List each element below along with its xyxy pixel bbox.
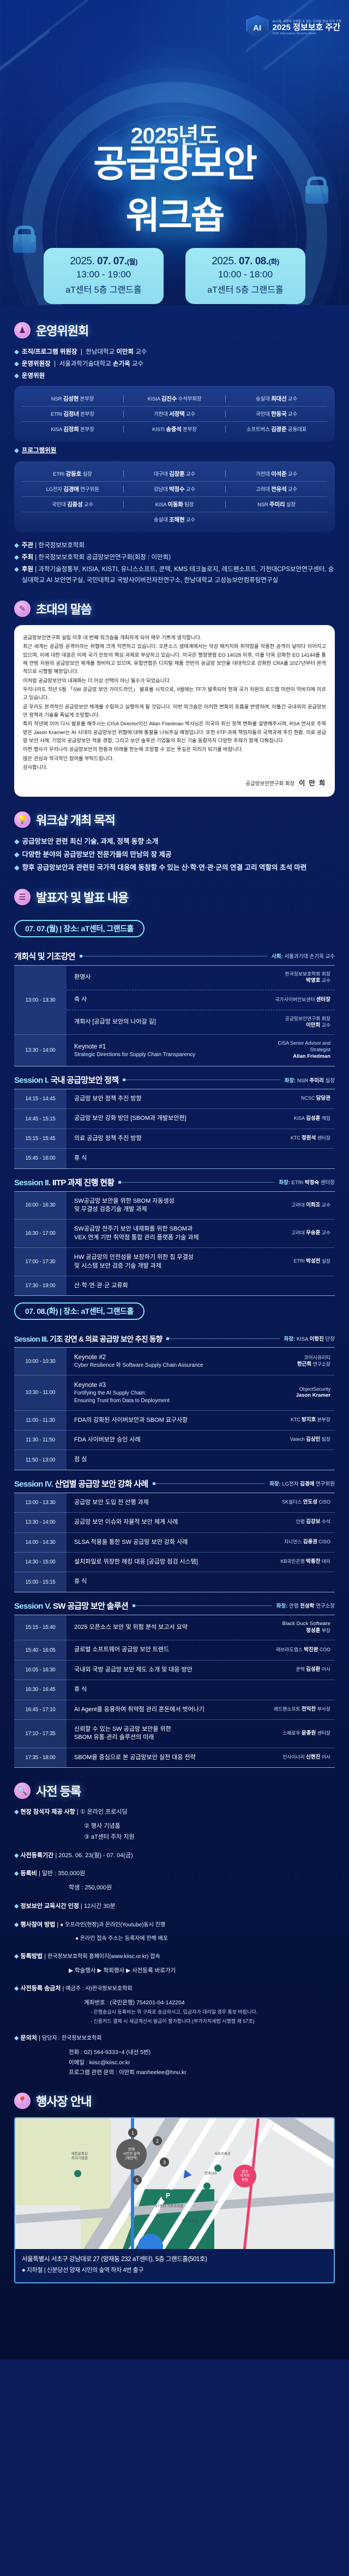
badge-title-en: 2025 Information Security Week	[273, 33, 341, 36]
time-cell: 13:30 - 14:00	[14, 1512, 67, 1532]
contact-program: 프로그램 관련 문의 : 이만희 manheelee@hnu.kr	[14, 2068, 335, 2078]
divider	[166, 1338, 279, 1339]
title-cell: FDA의 강화된 사이버보안과 SBOM 요구사항	[67, 1410, 258, 1430]
member-cell: 소프트버스 김광준 공동대표	[226, 425, 327, 433]
member-cell: 가천대 이석준 교수	[226, 470, 327, 478]
registration-fee: ◆ 등록비 | 일반 : 350,000원	[14, 1869, 335, 1880]
speaker-cell: KB국민은행 박종찬 대리	[258, 1552, 335, 1572]
map-subway-line	[131, 2178, 134, 2249]
keynote-subtitle: Fortifying the AI Supply Chain: Ensuring…	[74, 1390, 253, 1404]
map-park-area	[15, 2118, 111, 2205]
member-cell: 국민대 한동국 교수	[226, 410, 327, 418]
title-cell: SW공급망 전주기 보안 내재화를 위한 SBOM과 VEX 연계 기반 취약점…	[67, 1219, 258, 1247]
table-row: 14:15 - 14:45 공급망 보안 정책 추진 방향 NCSC 담당관	[14, 1089, 335, 1108]
greeting-paragraph: 곧 우리도 본격적인 공급망보안 체계를 수립하고 실행하게 될 것입니다. 이…	[23, 703, 326, 720]
session-name: Session I. 국내 공급망보안 정책	[14, 1074, 118, 1086]
title-cell: 공급망 보안 이슈와 자율적 보안 체계 사례	[67, 1512, 258, 1532]
speaker-cell: 코어시큐리티 한근희 연구소장	[258, 1348, 335, 1375]
session5-schedule-table: 15:15 - 15:40 2025 오픈소스 보안 및 위험 분석 보고서 요…	[14, 1615, 335, 1768]
time-cell: 15:00 - 15:15	[14, 1572, 67, 1591]
time-cell: 13:00 - 13:30	[14, 1493, 67, 1512]
member-row: KISA 김정희 본부장 KISTI 송중석 본부장 소프트버스 김광준 공동대…	[22, 422, 327, 437]
onsite-item: ③ aT센터 주차 지원	[14, 1832, 335, 1843]
time-cell: 15:45 - 16:00	[14, 1148, 67, 1168]
member-cell: 국민대 김종성 교수	[22, 500, 123, 508]
speaker-name: 센터장	[316, 997, 330, 1003]
title-cell: Keynote #2 Cyber Resilience 와 Software S…	[67, 1348, 258, 1375]
session2-schedule-table: 16:00 - 16:30 SW공급망 보안을 위한 SBOM 자동생성 및 무…	[14, 1191, 335, 1296]
fee-student: 학생 : 250,000원	[14, 1883, 335, 1894]
map-label-fire: 양재119	[189, 2172, 232, 2176]
label: 프로그램위원	[22, 445, 56, 456]
poster-page: AI AI시대, 국민이 신뢰할 수 있는 디지털 안심 국가 구현 2025 …	[0, 0, 349, 2360]
keynote-subtitle: Cyber Resilience 와 Software Supply Chain…	[74, 1362, 253, 1369]
chair-value: 서울과기대 손기욱 교수	[284, 954, 335, 960]
session-name: 개회식 및 기조강연	[14, 950, 75, 962]
title-cell: Keynote #3 Fortifying the AI Supply Chai…	[67, 1375, 258, 1410]
speaker-org: 한국정보보호학회 회장	[285, 971, 330, 978]
map-canvas[interactable]: 양재 시민의 숲역 (매헌역) 1 2 3 5 매헌윤봉길 의사기념관 서초우체…	[15, 2118, 334, 2249]
label: 등록비	[21, 1870, 37, 1877]
time-cell: 11:30 - 11:50	[14, 1430, 67, 1450]
greeting-paragraph: 감사합니다.	[23, 763, 326, 772]
attend-item: 온라인 접속 주소는 등록자에 한해 배포	[80, 1936, 168, 1942]
table-row: 17:10 - 17:35 신뢰할 수 있는 SW 공급망 보안을 위한 SBO…	[14, 1719, 335, 1748]
venue-map[interactable]: 양재 시민의 숲역 (매헌역) 1 2 3 5 매헌윤봉길 의사기념관 서초우체…	[14, 2117, 335, 2283]
speaker-cell: SK쉴더스 안도성 CISO	[258, 1493, 335, 1512]
bank-note: - 은행송금시 등록비는 위 구좌로 송금하시고, 입금자가 대리일 경우 통보…	[14, 2008, 335, 2016]
date-year: 2025.	[212, 256, 236, 267]
table-row: 10:30 - 11:00 Keynote #3 Fortifying the …	[14, 1375, 335, 1410]
purpose-text: 공급망보안 관련 최신 기술, 과제, 정책 동향 소개	[22, 836, 159, 848]
title-cell: 산·학·연·관·군 교류회	[67, 1276, 258, 1295]
keynote-label: Keynote #1	[74, 1042, 253, 1051]
title-cell: 환영사	[67, 966, 258, 990]
speaker-cell: 래브라도랩스 박진완 COO	[258, 1640, 335, 1659]
title-cell: 공급망 보안 정책 추진 방향	[67, 1089, 258, 1108]
person-icon: ♟	[14, 322, 31, 338]
divider	[123, 1080, 280, 1080]
table-row: 10:00 - 10:30 Keynote #2 Cyber Resilienc…	[14, 1348, 335, 1375]
session-name: Session II. IITP 과제 진행 현황	[14, 1177, 114, 1188]
speaker-cell: ETRI 박성천 실장	[258, 1247, 335, 1276]
session1-header: Session I. 국내 공급망보안 정책 좌장: NSR 주미리 실장	[14, 1074, 335, 1086]
session4-header: Session IV. 산업별 공급망 보안 강화 사례 좌장: LG전자 김경…	[14, 1478, 335, 1489]
title-cell: 2025 오픈소스 보안 및 위험 분석 보고서 요약	[67, 1615, 258, 1640]
table-row: 14:45 - 15:15 공급망 보안 강화 방안 [SBOM과 개발보안편]…	[14, 1108, 335, 1128]
greeting-signature: 공급망보안연구회 회장 이 만 희	[23, 778, 326, 789]
table-row: 15:45 - 16:00 휴 식	[14, 1148, 335, 1168]
title-cell: 점 심	[67, 1450, 258, 1469]
registration-method: ◆ 등록방법 | 한국정보보호학회 홈페이지(www.kiisc.or.kr) …	[14, 1951, 335, 1962]
onsite-benefits: ◆ 현장 참석자 제공 사항 | ① 온라인 프로시딩	[14, 1807, 335, 1818]
session3-header: Session III. 기조 강연 & 의료 공급망 보안 추진 동향 좌장:…	[14, 1333, 335, 1344]
time-cell: 13:00 - 13:30	[14, 966, 67, 1035]
signature-org: 공급망보안연구회 회장	[245, 781, 294, 787]
bullet-icon: ◆	[14, 849, 20, 861]
greeting-section-header: ✎ 초대의 말씀	[14, 600, 335, 617]
chair-title: 실장	[326, 1078, 335, 1084]
table-row: 13:30 - 14:00 Keynote #1 Strategic Direc…	[14, 1034, 335, 1066]
table-row: 16:30 - 17:00 SW공급망 전주기 보안 내재화를 위한 SBOM과…	[14, 1219, 335, 1247]
chair-org: ETRI	[292, 1180, 304, 1186]
title-cell: SLSA 적용을 통한 SW 공급망 보안 강화 사례	[67, 1532, 258, 1552]
member-cell: NSR 주미리 실장	[226, 500, 327, 508]
speaker-cell	[258, 1680, 335, 1699]
day2-pill: 07. 08.(화) | 장소: aT센터, 그랜드홀	[14, 1302, 145, 1320]
member-cell: ETRI 김정녀 본부장	[22, 410, 123, 418]
table-row: 14:30 - 15:00 설치파일로 위장한 해킹 대응 [공급망 점검 시스…	[14, 1552, 335, 1572]
member-cell: KISTI 송중석 본부장	[124, 425, 225, 433]
bank-note: - 신용카드 결제 시 세금계산서 발급이 불가합니다.(부가가치세법 시행령 …	[14, 2017, 335, 2026]
registration-path: ▶ 학술행사 ▶ 학회행사 ▶ 사전등록 바로가기	[14, 1966, 335, 1976]
speaker-cell: 인사이너리 신현진 이사	[258, 1748, 335, 1767]
session-chair: 좌장: KISA 이항진 단장	[284, 1335, 335, 1342]
date-year: 2025.	[70, 256, 94, 267]
hero-subtitle: 워크숍	[0, 185, 349, 239]
section-title: 행사장 안내	[36, 2092, 91, 2110]
chair-title: 단장	[326, 1336, 335, 1342]
speaker-title: 교수	[322, 1022, 330, 1028]
member-cell: 가천대 서정택 교수	[124, 410, 225, 418]
speaker-cell	[258, 1276, 335, 1295]
section-title: 워크샵 개최 목적	[36, 811, 115, 828]
member-cell: KISA 김정희 본부장	[22, 425, 123, 433]
map-label-parking: aT센터 지하주차장	[141, 2204, 198, 2209]
speaker-cell: 고려대 이희조 교수	[258, 1192, 335, 1220]
person-name: 이만희	[116, 349, 134, 355]
program-members-box: ETRI 강동호 실장 대구대 김창훈 교수 가천대 이석준 교수 LG전자 김…	[14, 461, 335, 532]
chair-org: NSR	[297, 1078, 308, 1084]
member-cell: LG전자 김경애 연구위원	[22, 485, 123, 493]
value: 서울과학기술대학교	[59, 361, 111, 367]
session3-schedule-table: 10:00 - 10:30 Keynote #2 Cyber Resilienc…	[14, 1347, 335, 1470]
host-line: ◆ 주관 | 한국정보보호학회	[14, 540, 335, 551]
time-cell: 14:30 - 15:00	[14, 1552, 67, 1572]
program-section-header: ☰ 발표자 및 발표 내용	[14, 888, 335, 906]
title-cell: 공급망 보안 강화 방안 [SBOM과 개발보안편]	[67, 1108, 258, 1128]
map-label-plaza: 희망공판장	[165, 2219, 214, 2223]
bullet-icon: ◆	[14, 862, 20, 874]
map-label-postoffice: 서초우체국	[198, 2152, 247, 2156]
attend-item: 오프라인(현장)과 온라인(Youtube)동시 진행	[65, 1922, 165, 1928]
contact-email: 이메일 : kiisc@kiisc.or.kr	[14, 2058, 335, 2068]
time-cell: 16:30 - 17:00	[14, 1219, 67, 1247]
committee-chair-org: ◆ 조직/프로그램 위원장 | 한남대학교 이만희 교수	[14, 347, 335, 357]
speaker-title: 교수	[322, 978, 330, 983]
value: 과학기술정통부, KISIA, KISTI, 유니스소프트, 쿤텍, KMS 테…	[22, 566, 334, 584]
table-row: 14:00 - 14:30 SLSA 적용을 통한 SW 공급망 보안 강화 사…	[14, 1532, 335, 1552]
date-venue: aT센터 5층 그랜드홀	[189, 282, 302, 295]
table-row: 16:45 - 17:10 AI Agent를 응용하여 취약점 관리 혼돈에서…	[14, 1700, 335, 1719]
speaker-cell: 한국정보보호학회 회장 박영호 교수	[258, 966, 335, 990]
organizer-line: ◆ 주최 | 한국정보보호학회 공급망보안연구회(회장 : 이만희)	[14, 552, 335, 563]
time-cell: 15:40 - 16:05	[14, 1640, 67, 1659]
value: 한남대학교	[86, 349, 115, 355]
speaker-cell: ObjectSecurity Jason Kramer	[258, 1375, 335, 1410]
time-cell: 15:15 - 15:45	[14, 1129, 67, 1148]
purpose-item: ◆ 다양한 분야의 공급망보안 전문가들의 만남의 장 제공	[14, 849, 335, 861]
chair-name: 박정숙	[305, 1180, 319, 1186]
map-exit-3: 3	[160, 2157, 169, 2167]
time-cell: 17:30 - 19:00	[14, 1276, 67, 1295]
table-row: 11:30 - 11:50 FDA 사이버보안 승인 사례 Vatech 김상민…	[14, 1430, 335, 1450]
title-cell: 글로벌 소프트웨어 공급망 보안 트렌드	[67, 1640, 258, 1659]
member-cell: 숭실대 조해현 교수	[154, 516, 195, 524]
table-row: 15:15 - 15:45 의료 공급망 정책 추진 방향 KTC 정원석 센터…	[14, 1129, 335, 1148]
chair-org: KISA	[297, 1336, 308, 1342]
chair-label: 좌장:	[285, 1078, 296, 1084]
value: 한국정보보호학회 홈페이지(www.kiisc.or.kr) 접속	[47, 1954, 160, 1960]
poster-body: ♟ 운영위원회 ◆ 조직/프로그램 위원장 | 한남대학교 이만희 교수 ◆ 운…	[0, 305, 349, 2360]
member-row: NSR 김성현 본부장 KISIA 김진수 수석부회장 숭실대 최대선 교수	[22, 391, 327, 407]
session-name: Session IV. 산업별 공급망 보안 강화 사례	[14, 1478, 148, 1489]
table-row: 13:30 - 14:00 공급망 보안 이슈와 자율적 보안 체계 사례 안랩…	[14, 1512, 335, 1532]
committee-chair-operations: ◆ 운영위원장 | 서울과학기술대학교 손기욱 교수	[14, 359, 335, 369]
document-icon: ☰	[14, 889, 31, 905]
time-cell: 14:00 - 14:30	[14, 1532, 67, 1552]
date-weekday: (화)	[269, 258, 279, 266]
session-chair: 좌장: ETRI 박정숙 센터장	[279, 1178, 335, 1186]
member-cell: KISA 이동화 팀장	[124, 500, 225, 508]
committee-members-label: ◆ 운영위원	[14, 371, 335, 381]
time-cell: 11:50 - 13:00	[14, 1450, 67, 1469]
date-time: 10:00 - 18:00	[189, 269, 302, 280]
speaker-cell: 쿤텍 김성환 이사	[258, 1660, 335, 1680]
speaker-cell: KTC 정원석 센터장	[258, 1129, 335, 1148]
time-cell: 17:35 - 18:00	[14, 1748, 67, 1767]
map-poi-dot	[214, 2165, 221, 2172]
chair-name: 이항진	[310, 1336, 324, 1342]
map-label-memorial: 매헌윤봉길 의사기념관	[58, 2152, 101, 2161]
value: 2025. 06. 23(월) - 07. 04(금)	[58, 1852, 133, 1859]
label: 조직/프로그램 위원장	[22, 349, 77, 355]
bullet-icon: ◆	[14, 564, 19, 586]
label: 문의처	[21, 2035, 37, 2041]
speaker-cell: CISA Senior Advisor and Strategist Allan…	[258, 1034, 335, 1066]
member-row: 숭실대 조해현 교수	[22, 512, 327, 527]
time-cell: 11:00 - 11:30	[14, 1410, 67, 1430]
bullet-icon: ◆	[14, 552, 19, 563]
title-cell: 신뢰할 수 있는 SW 공급망 보안을 위한 SBOM 유통·관리 솔루션의 미…	[67, 1719, 258, 1748]
keynote-label: Keynote #2	[74, 1353, 253, 1362]
time-cell: 17:00 - 17:30	[14, 1247, 67, 1276]
attendance-method: ◆ 행사참여 방법 | ● 오프라인(현장)과 온라인(Youtube)동시 진…	[14, 1920, 335, 1931]
member-cell: 대구대 김창훈 교수	[124, 470, 225, 478]
greeting-paragraph: 최근 세계는 공급망 공격이라는 위협에 크게 직면하고 있습니다. 오픈소스 …	[23, 643, 326, 676]
table-row: 11:00 - 11:30 FDA의 강화된 사이버보안과 SBOM 요구사항 …	[14, 1410, 335, 1430]
committee-section-header: ♟ 운영위원회	[14, 322, 335, 339]
table-row: 17:00 - 17:30 HW 공급망의 안전성을 보장하기 위한 칩 무결성…	[14, 1247, 335, 1276]
greeting-paragraph: 이처럼 공급망보안의 내재화는 더 이상 선택이 아닌 필수가 되었습니다.	[23, 677, 326, 685]
title-cell: 공급망 보안 도입 전 선행 과제	[67, 1493, 258, 1512]
keynote-label: Keynote #3	[74, 1381, 253, 1390]
person-title: 교수	[135, 349, 147, 355]
registration-section: 🔍 사전 등록 ◆ 현장 참석자 제공 사항 | ① 온라인 프로시딩 ② 행사…	[0, 1782, 349, 2078]
table-row: 17:35 - 18:00 SBOM을 중심으로 본 공급망보안 실전 대응 전…	[14, 1748, 335, 1767]
table-row: 13:00 - 13:30 환영사 한국정보보호학회 회장 박영호 교수 축 사	[14, 966, 335, 1035]
contact-phone: 전화 : 02) 564-9333~4 (내선 5번)	[14, 2047, 335, 2058]
greeting-paragraph: 공급망보안연구회 설립 이후 네 번째 워크숍을 개최하게 되어 매우 기쁘게 …	[23, 634, 326, 642]
label: 주최	[22, 554, 33, 561]
table-row: 13:00 - 13:30 공급망 보안 도입 전 선행 과제 SK쉴더스 안도…	[14, 1493, 335, 1512]
section-title: 사전 등록	[36, 1782, 81, 1799]
time-cell: 13:30 - 14:00	[14, 1034, 67, 1066]
title-cell: 개회사 [공급망 보안의 나아갈 길]	[67, 1010, 258, 1035]
speaker-cell: Vatech 김상민 팀장	[258, 1430, 335, 1450]
label: 운영위원장	[22, 361, 51, 367]
time-cell: 16:05 - 16:30	[14, 1660, 67, 1680]
opening-session-header: 개회식 및 기조강연 사회: 서울과기대 손기욱 교수	[14, 950, 335, 962]
date-weekday: (월)	[127, 258, 137, 266]
footer-spacer	[0, 2283, 349, 2360]
date-card-day1: 2025. 07. 07.(월) 13:00 - 19:00 aT센터 5층 그…	[44, 248, 164, 304]
registration-section-header: 🔍 사전 등록	[14, 1782, 335, 1799]
time-cell: 10:30 - 11:00	[14, 1375, 67, 1410]
venue-subway: ● 지하철 | 신분당선 양재 시민의 숲역 하차 4번 출구	[22, 2265, 327, 2276]
title-cell: 휴 식	[67, 1572, 258, 1591]
credit-hours: ◆ 정보보안 교육시간 인정 | 12시간 30분	[14, 1901, 335, 1912]
program-section: ☰ 발표자 및 발표 내용 07. 07.(월) | 장소: aT센터, 그랜드…	[0, 888, 349, 1768]
purpose-section: 💡 워크샵 개최 목적 ◆ 공급망보안 관련 최신 기술, 과제, 정책 동향 …	[0, 811, 349, 874]
onsite-item: ② 행사 기념품	[14, 1821, 335, 1832]
member-row: ETRI 김정녀 본부장 가천대 서정택 교수 국민대 한동국 교수	[22, 407, 327, 422]
value: 한국정보보호학회 공급망보안연구회(회장 : 이만희)	[38, 554, 171, 561]
time-cell: 14:15 - 14:45	[14, 1089, 67, 1108]
member-cell: ETRI 강동호 실장	[22, 470, 123, 478]
table-row: 15:15 - 15:40 2025 오픈소스 보안 및 위험 분석 보고서 요…	[14, 1615, 335, 1640]
title-cell: HW 공급망의 안전성을 보장하기 위한 칩 무결성 및 시스템 보안 검증 기…	[67, 1247, 258, 1276]
time-cell: 16:45 - 17:10	[14, 1700, 67, 1719]
label: 행사참여 방법	[21, 1922, 56, 1928]
divider	[153, 1483, 266, 1484]
bullet-icon: ◆	[14, 347, 19, 357]
venue-address: 서울특별시 서초구 강남대로 27 (양재동 232 aT센터), 5층 그랜드…	[22, 2254, 327, 2265]
session-chair: 좌장: 안랩 전성학 연구소장	[276, 1602, 335, 1609]
session-name: Session V. SW 공급망 보안 솔루션	[14, 1600, 128, 1611]
chair-name: 전성학	[300, 1603, 314, 1609]
chair-label: 좌장:	[279, 1180, 290, 1186]
speaker-cell: 국가사이버안보센터 센터장	[258, 990, 335, 1009]
contact-person: 담당자 : 한국정보보호학회	[42, 2035, 102, 2041]
chair-org: LG전자	[282, 1481, 298, 1487]
time-cell: 16:00 - 16:30	[14, 1192, 67, 1220]
badge-title: 2025 정보보호 주간	[273, 23, 341, 33]
member-row: 국민대 김종성 교수 KISA 이동화 팀장 NSR 주미리 실장	[22, 497, 327, 512]
title-cell: 설치파일로 위장한 해킹 대응 [공급망 점검 시스템]	[67, 1552, 258, 1572]
map-poi-dot	[203, 2183, 210, 2190]
bullet-icon: ◆	[14, 445, 19, 456]
time-cell: 10:00 - 10:30	[14, 1348, 67, 1375]
chair-label: 좌장:	[276, 1603, 288, 1609]
venue-address-block: 서울특별시 서초구 강남대로 27 (양재동 232 aT센터), 5층 그랜드…	[15, 2249, 334, 2282]
label: 사전등록 송금처	[21, 1985, 61, 1992]
title-cell: AI Agent를 응용하여 취약점 관리 혼돈에서 벗어나기	[67, 1700, 258, 1719]
title-cell: SW공급망 보안을 위한 SBOM 자동생성 및 무결성 검증기술 개발 과제	[67, 1192, 258, 1220]
session-chair: 좌장: LG전자 김경애 연구위원	[269, 1480, 335, 1487]
ai-shield-icon: AI	[246, 15, 268, 40]
greeting-section: ✎ 초대의 말씀 공급망보안연구회 설립 이후 네 번째 워크숍을 개최하게 되…	[0, 600, 349, 797]
fee-general: 일반 : 350,000원	[42, 1870, 85, 1877]
section-title: 발표자 및 발표 내용	[36, 888, 128, 906]
operating-members-box: NSR 김성현 본부장 KISIA 김진수 수석부회장 숭실대 최대선 교수 E…	[14, 386, 335, 442]
title-cell: 의료 공급망 정책 추진 방향	[67, 1129, 258, 1148]
bullet-icon: ◆	[14, 371, 19, 381]
speaker-cell: 안랩 김강보 수석	[258, 1512, 335, 1532]
chair-org: 안랩	[289, 1603, 298, 1609]
session1-schedule-table: 14:15 - 14:45 공급망 보안 정책 추진 방향 NCSC 담당관 1…	[14, 1089, 335, 1169]
day1-pill: 07. 07.(월) | 장소: aT센터, 그랜드홀	[14, 920, 145, 937]
venue-section: 📍 행사장 안내	[0, 2092, 349, 2283]
table-row: 11:50 - 13:00 점 심	[14, 1450, 335, 1469]
member-cell: 숭실대 최대선 교수	[226, 395, 327, 403]
table-row: 16:30 - 16:45 휴 식	[14, 1680, 335, 1699]
chair-title: 연구위원	[316, 1481, 335, 1487]
member-cell: NSR 김성현 본부장	[22, 395, 123, 403]
contact-info: ◆ 문의처 | 담당자 : 한국정보보호학회	[14, 2033, 335, 2044]
bank-transfer: ◆ 사전등록 송금처 | 예금주 : 사)한국정보보호학회	[14, 1984, 335, 1995]
time-cell: 15:15 - 15:40	[14, 1615, 67, 1640]
chair-title: 연구소장	[316, 1603, 335, 1609]
signature-name: 이 만 희	[299, 779, 326, 787]
speaker-name: 박영호	[306, 978, 320, 984]
attend-item-wrap: ● 온라인 접속 주소는 등록자에 한해 배포	[14, 1934, 335, 1944]
title-cell: FDA 사이버보안 승인 사례	[67, 1430, 258, 1450]
speaker-cell: 레드펜소프트 전익찬 부사장	[258, 1700, 335, 1719]
label: 사전등록기간	[21, 1852, 54, 1859]
magnifier-icon: 🔍	[14, 1783, 31, 1799]
speaker-cell	[258, 1572, 335, 1591]
session-chair: 좌장: NSR 주미리 실장	[285, 1076, 335, 1084]
purpose-section-header: 💡 워크샵 개최 목적	[14, 811, 335, 828]
member-cell: 고려대 전유석 교수	[226, 485, 327, 493]
bullet-icon: ◆	[14, 836, 20, 848]
label: 정보보안 교육시간 인정	[21, 1903, 79, 1910]
person-name: 손기욱	[113, 361, 130, 367]
date-cards: 2025. 07. 07.(월) 13:00 - 19:00 aT센터 5층 그…	[0, 248, 349, 304]
speaker-cell	[258, 1450, 335, 1469]
chair-title: 센터장	[321, 1180, 335, 1186]
map-station-marker: 양재 시민의 숲역 (매헌역)	[116, 2139, 147, 2169]
speaker-cell: NCSC 담당관	[258, 1089, 335, 1108]
speaker-cell: 공급망보안연구회 회장 이만희 교수	[258, 1010, 335, 1035]
value: 12시간 30분	[84, 1903, 116, 1910]
speaker-org: 국가사이버안보센터	[275, 997, 315, 1002]
session-chair: 사회: 서울과기대 손기욱 교수	[272, 952, 335, 960]
greeting-paragraph: 특히 작년에 이어 다시 발표를 해주시는 CISA Director이신 Al…	[23, 720, 326, 745]
greeting-paragraph: 우리나라도 작년 5월 「SW 공급망 보안 가이드라인」 발표를 시작으로, …	[23, 686, 326, 702]
map-direction-marker: 염곡 사거리 방면	[233, 2165, 256, 2187]
title-cell: Keynote #1 Strategic Directions for Supp…	[67, 1034, 258, 1066]
chair-label: 사회:	[272, 954, 283, 960]
speaker-org: 공급망보안연구회 회장	[285, 1016, 330, 1022]
bullet-icon: ◆	[14, 540, 19, 551]
time-cell: 17:10 - 17:35	[14, 1719, 67, 1748]
greeting-paragraph: 이번 행사가 우리나라 공급망보안의 현황과 미래를 한눈에 조망할 수 있는 …	[23, 745, 326, 754]
divider	[80, 956, 267, 956]
time-cell: 14:45 - 15:15	[14, 1108, 67, 1128]
table-row: 16:00 - 16:30 SW공급망 보안을 위한 SBOM 자동생성 및 무…	[14, 1192, 335, 1220]
label: 후원	[22, 566, 33, 573]
speaker-cell	[258, 1148, 335, 1168]
speaker-cell: KTC 방지호 본부장	[258, 1410, 335, 1430]
pen-icon: ✎	[14, 601, 31, 617]
keynote-subtitle: Strategic Directions for Supply Chain Tr…	[74, 1051, 253, 1059]
title-cell: 휴 식	[67, 1148, 258, 1168]
label: 등록방법	[21, 1953, 43, 1960]
chair-label: 좌장:	[269, 1481, 281, 1487]
bullet-icon: ◆	[14, 359, 19, 369]
